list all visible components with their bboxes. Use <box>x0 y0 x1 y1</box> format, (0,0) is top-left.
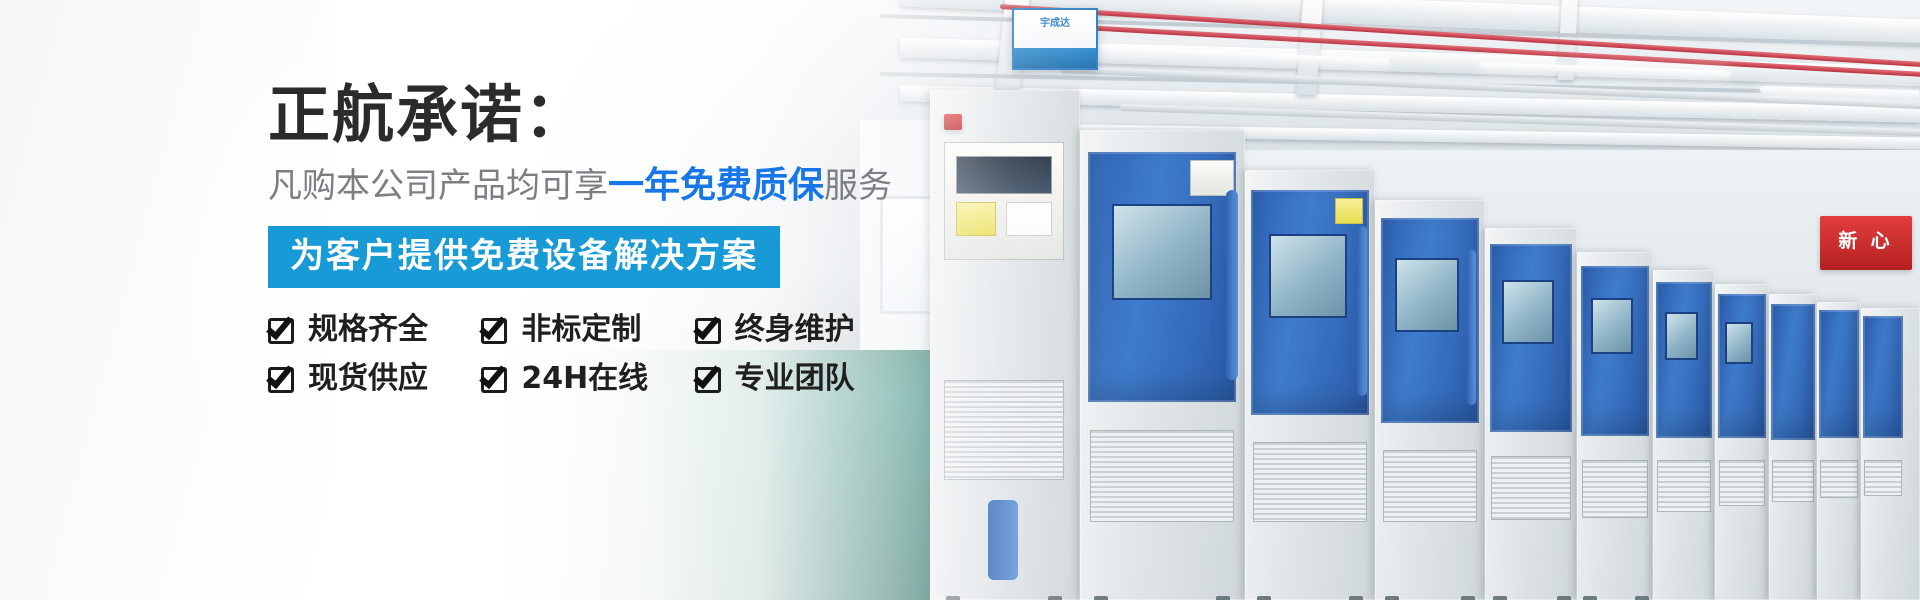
machine-foot <box>1349 596 1363 600</box>
subtitle-highlight: 一年免费质保 <box>608 165 824 206</box>
vent-grille <box>1820 460 1858 498</box>
test-chamber <box>1769 294 1817 600</box>
checkbox-checked-icon <box>481 363 512 394</box>
machine-foot <box>1216 596 1230 600</box>
subtitle: 凡购本公司产品均可享一年免费质保服务 <box>268 168 968 204</box>
machine-foot <box>1461 596 1475 600</box>
machine-foot <box>1257 596 1271 600</box>
test-chamber <box>1375 200 1485 600</box>
vent-grille <box>1491 456 1571 520</box>
chamber-window <box>1591 298 1633 354</box>
machine-foot <box>1635 596 1649 600</box>
headline: 正航承诺： <box>268 84 968 146</box>
test-chamber <box>1245 170 1375 600</box>
chamber-window <box>1502 280 1554 344</box>
yellow-indicator <box>1335 198 1363 224</box>
feature-item-24h-online: 24H在线 <box>481 363 694 394</box>
checkbox-checked-icon <box>695 363 726 394</box>
feature-label: 终身维护 <box>735 315 855 345</box>
vent-grille <box>1253 442 1367 522</box>
vent-grille <box>1582 460 1648 518</box>
door-handle <box>1357 226 1367 396</box>
chamber-door <box>1819 310 1859 438</box>
feature-item-guige-quanquan: 规格齐全 <box>268 314 481 345</box>
chamber-window <box>1725 322 1753 364</box>
test-chamber <box>1485 228 1577 600</box>
promo-banner: 宇成达 <box>0 0 1920 600</box>
feature-item-feibiao-dingzhi: 非标定制 <box>481 314 694 345</box>
feature-row: 现货供应 24H在线 专业团队 <box>268 363 908 394</box>
subtitle-prefix: 凡购本公司产品均可享 <box>268 166 608 206</box>
chamber-door <box>1771 304 1815 440</box>
wall-sign-text: 新 心 <box>1820 226 1912 253</box>
vent-grille <box>1657 460 1711 512</box>
chamber-window <box>1112 204 1212 300</box>
banner-content: 正航承诺： 凡购本公司产品均可享一年免费质保服务 为客户提供免费设备解决方案 规… <box>268 84 968 412</box>
checkbox-checked-icon <box>268 363 299 394</box>
feature-list: 规格齐全 非标定制 终身维护 <box>268 314 908 394</box>
feature-label: 现货供应 <box>308 364 428 394</box>
chamber-door <box>1718 294 1766 438</box>
chamber-window <box>1269 234 1347 318</box>
feature-label: 规格齐全 <box>308 315 428 345</box>
test-chamber <box>1817 302 1861 600</box>
feature-row: 规格齐全 非标定制 终身维护 <box>268 314 908 345</box>
chamber-window <box>1665 312 1698 360</box>
checkbox-checked-icon <box>695 314 726 345</box>
vent-grille <box>1864 460 1902 496</box>
vent-grille <box>1383 450 1477 522</box>
feature-item-xianhuo-gongying: 现货供应 <box>268 363 481 394</box>
vent-grille <box>1719 460 1765 506</box>
test-chamber <box>1577 252 1653 600</box>
feature-label: 24H在线 <box>521 364 648 394</box>
blue-callout-bar: 为客户提供免费设备解决方案 <box>268 226 780 288</box>
test-chamber <box>1861 308 1920 600</box>
machine-foot <box>1583 596 1597 600</box>
vent-grille <box>1772 460 1814 502</box>
feature-label: 非标定制 <box>521 315 641 345</box>
subtitle-suffix: 服务 <box>824 166 892 206</box>
machine-foot <box>1493 596 1507 600</box>
feature-label: 专业团队 <box>735 364 855 394</box>
machine-foot <box>1557 596 1571 600</box>
checkbox-checked-icon <box>481 314 512 345</box>
chamber-window <box>1395 258 1459 332</box>
door-handle <box>1226 190 1238 380</box>
checkbox-checked-icon <box>268 314 299 345</box>
test-chamber <box>1653 270 1715 600</box>
feature-item-zhuanye-tuandui: 专业团队 <box>695 363 908 394</box>
test-chamber <box>1715 284 1769 600</box>
chamber-door <box>1863 316 1903 438</box>
feature-item-zhongshen-weihu: 终身维护 <box>695 314 908 345</box>
machine-foot <box>1385 596 1399 600</box>
door-handle <box>1467 250 1476 405</box>
chamber-door <box>1656 282 1712 438</box>
